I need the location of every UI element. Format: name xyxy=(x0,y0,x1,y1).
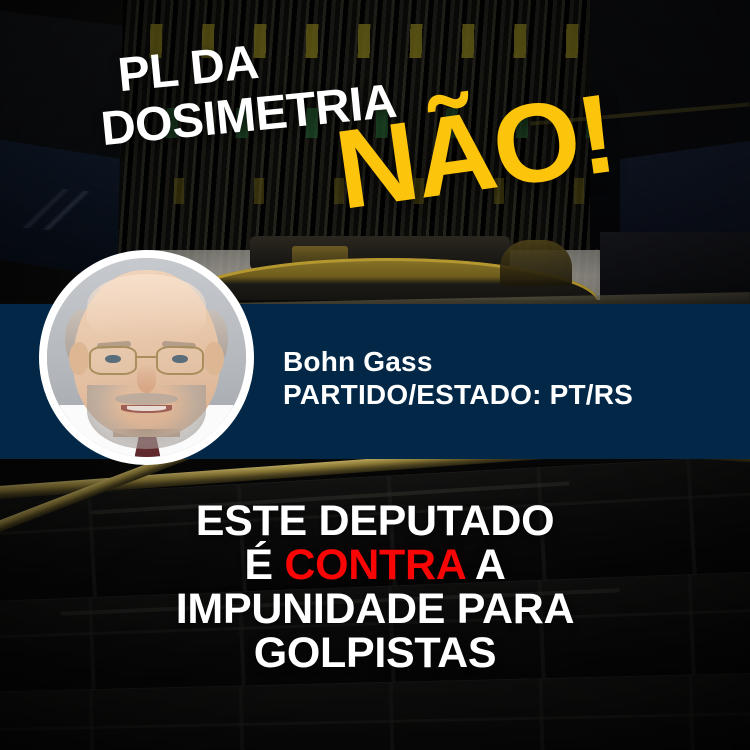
glasses-lens-left-icon xyxy=(89,346,137,376)
deputy-portrait-avatar xyxy=(39,250,254,465)
message-line-4: GOLPISTAS xyxy=(0,632,750,676)
portrait-teeth xyxy=(127,406,167,411)
deputy-name: Bohn Gass xyxy=(283,346,633,378)
glasses-lens-right-icon xyxy=(156,346,204,376)
message-line-2: É CONTRA A xyxy=(0,544,750,588)
deputy-info-text: Bohn Gass PARTIDO/ESTADO: PT/RS xyxy=(283,346,633,412)
wall-emblem-icon xyxy=(7,184,95,234)
bottom-message: ESTE DEPUTADO É CONTRA A IMPUNIDADE PARA… xyxy=(0,500,750,675)
portrait-forehead-highlight xyxy=(87,274,206,338)
headline-exclamation-nao: NÃO! xyxy=(331,85,620,219)
glasses-bridge-icon xyxy=(137,356,157,358)
message-line-1: ESTE DEPUTADO xyxy=(0,500,750,544)
tribune xyxy=(500,240,572,286)
message-line-3: IMPUNIDADE PARA xyxy=(0,588,750,632)
portrait-chin-shadow xyxy=(107,429,187,447)
deputy-party-state: PARTIDO/ESTADO: PT/RS xyxy=(283,378,633,412)
message-line-2-before: É xyxy=(244,541,284,589)
portrait-image xyxy=(47,258,246,457)
portrait-ear-left xyxy=(69,342,89,376)
campaign-poster: PL DA DOSIMETRIA NÃO! Bohn Gass PARTIDO/… xyxy=(0,0,750,750)
message-line-2-after: A xyxy=(465,541,506,589)
message-highlight-contra: CONTRA xyxy=(284,541,465,589)
